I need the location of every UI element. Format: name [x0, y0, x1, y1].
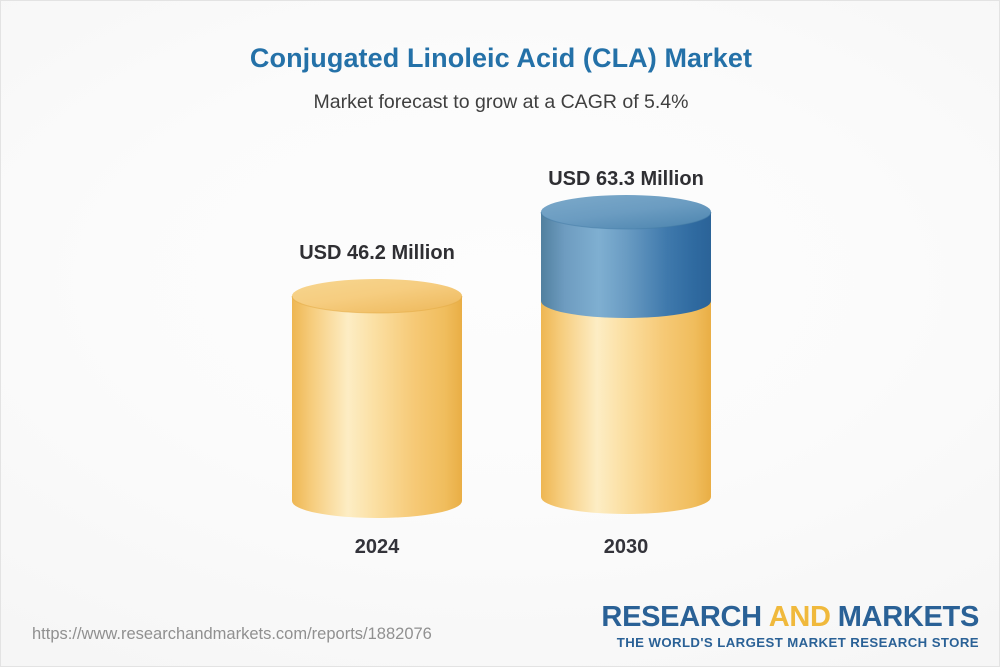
research-and-markets-logo[interactable]: RESEARCHANDMARKETS THE WORLD'S LARGEST M…	[601, 601, 979, 650]
category-label-2024: 2024	[287, 536, 467, 559]
source-url[interactable]: https://www.researchandmarkets.com/repor…	[32, 625, 432, 644]
value-label-2030: USD 63.3 Million	[526, 168, 726, 191]
page-subtitle: Market forecast to grow at a CAGR of 5.4…	[1, 91, 1000, 114]
logo-wordmark: RESEARCHANDMARKETS	[601, 601, 979, 634]
category-label-2030: 2030	[536, 536, 716, 559]
chart-canvas: Conjugated Linoleic Acid (CLA) Market Ma…	[0, 0, 1000, 667]
logo-tagline: THE WORLD'S LARGEST MARKET RESEARCH STOR…	[601, 635, 979, 650]
logo-word-and: AND	[762, 601, 838, 633]
logo-word-markets: MARKETS	[838, 601, 979, 633]
logo-word-research: RESEARCH	[601, 601, 761, 633]
value-label-2024: USD 46.2 Million	[277, 242, 477, 265]
page-title: Conjugated Linoleic Acid (CLA) Market	[1, 43, 1000, 74]
bar-cylinder-2024	[287, 279, 467, 521]
bar-cylinder-2030	[536, 195, 716, 521]
